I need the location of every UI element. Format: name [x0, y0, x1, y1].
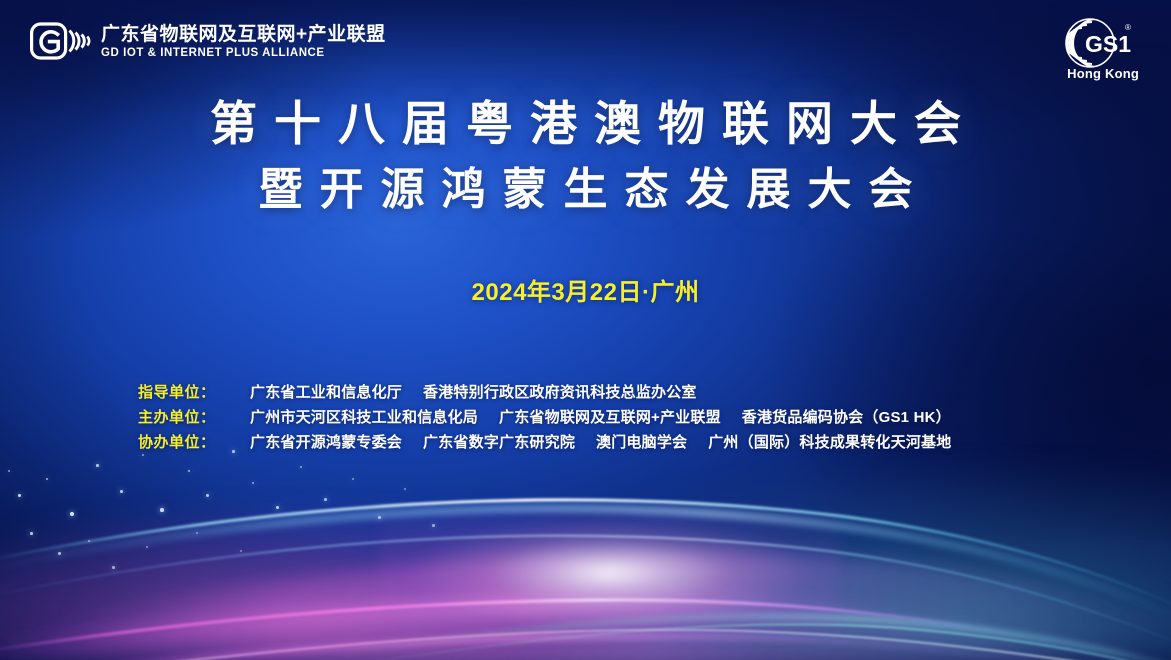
gd-iot-logo-name-en: GD IOT & INTERNET PLUS ALLIANCE [101, 48, 386, 60]
svg-text:GS1: GS1 [1085, 31, 1131, 57]
gs1-mark-row: GS1 ® [1063, 16, 1141, 70]
organizer-item: 广州市天河区科技工业和信息化局 [250, 406, 478, 427]
conference-banner: 广东省物联网及互联网+产业联盟 GD IOT & INTERNET PLUS A… [0, 0, 1171, 660]
organizer-item: 香港特别行政区政府资讯科技总监办公室 [423, 381, 697, 402]
gs1-region-label: Hong Kong [1067, 66, 1139, 81]
gd-iot-logo-text: 广东省物联网及互联网+产业联盟 GD IOT & INTERNET PLUS A… [101, 25, 386, 60]
organizer-item: 广东省物联网及互联网+产业联盟 [499, 406, 721, 427]
organizer-label: 指导单位： [138, 381, 250, 402]
event-date-location: 2024年3月22日·广州 [0, 272, 1171, 307]
gs1-hong-kong-logo: GS1 ® Hong Kong [1063, 16, 1141, 81]
organizer-items: 广州市天河区科技工业和信息化局 广东省物联网及互联网+产业联盟 香港货品编码协会… [250, 406, 951, 427]
gd-iot-alliance-logo: 广东省物联网及互联网+产业联盟 GD IOT & INTERNET PLUS A… [30, 20, 386, 64]
organizer-item: 香港货品编码协会（GS1 HK） [742, 406, 951, 427]
gd-iot-logo-name-cn: 广东省物联网及互联网+产业联盟 [101, 25, 386, 44]
organizer-item: 广东省工业和信息化厅 [250, 381, 402, 402]
title-line-1: 第十八届粤港澳物联网大会 [0, 98, 1171, 151]
gs1-registered-mark: ® [1125, 23, 1131, 32]
title-line-2: 暨开源鸿蒙生态发展大会 [0, 165, 1171, 214]
light-wave-decoration [0, 430, 1171, 660]
gs1-circle-logo-icon: GS1 ® [1063, 16, 1141, 70]
gd-iot-signal-logo-icon [30, 20, 92, 64]
organizer-items: 广东省工业和信息化厅 香港特别行政区政府资讯科技总监办公室 [250, 381, 697, 402]
organizer-label: 主办单位： [138, 406, 250, 427]
organizer-row: 指导单位： 广东省工业和信息化厅 香港特别行政区政府资讯科技总监办公室 [138, 381, 951, 402]
conference-title: 第十八届粤港澳物联网大会 暨开源鸿蒙生态发展大会 [0, 98, 1171, 214]
organizer-row: 主办单位： 广州市天河区科技工业和信息化局 广东省物联网及互联网+产业联盟 香港… [138, 406, 951, 427]
